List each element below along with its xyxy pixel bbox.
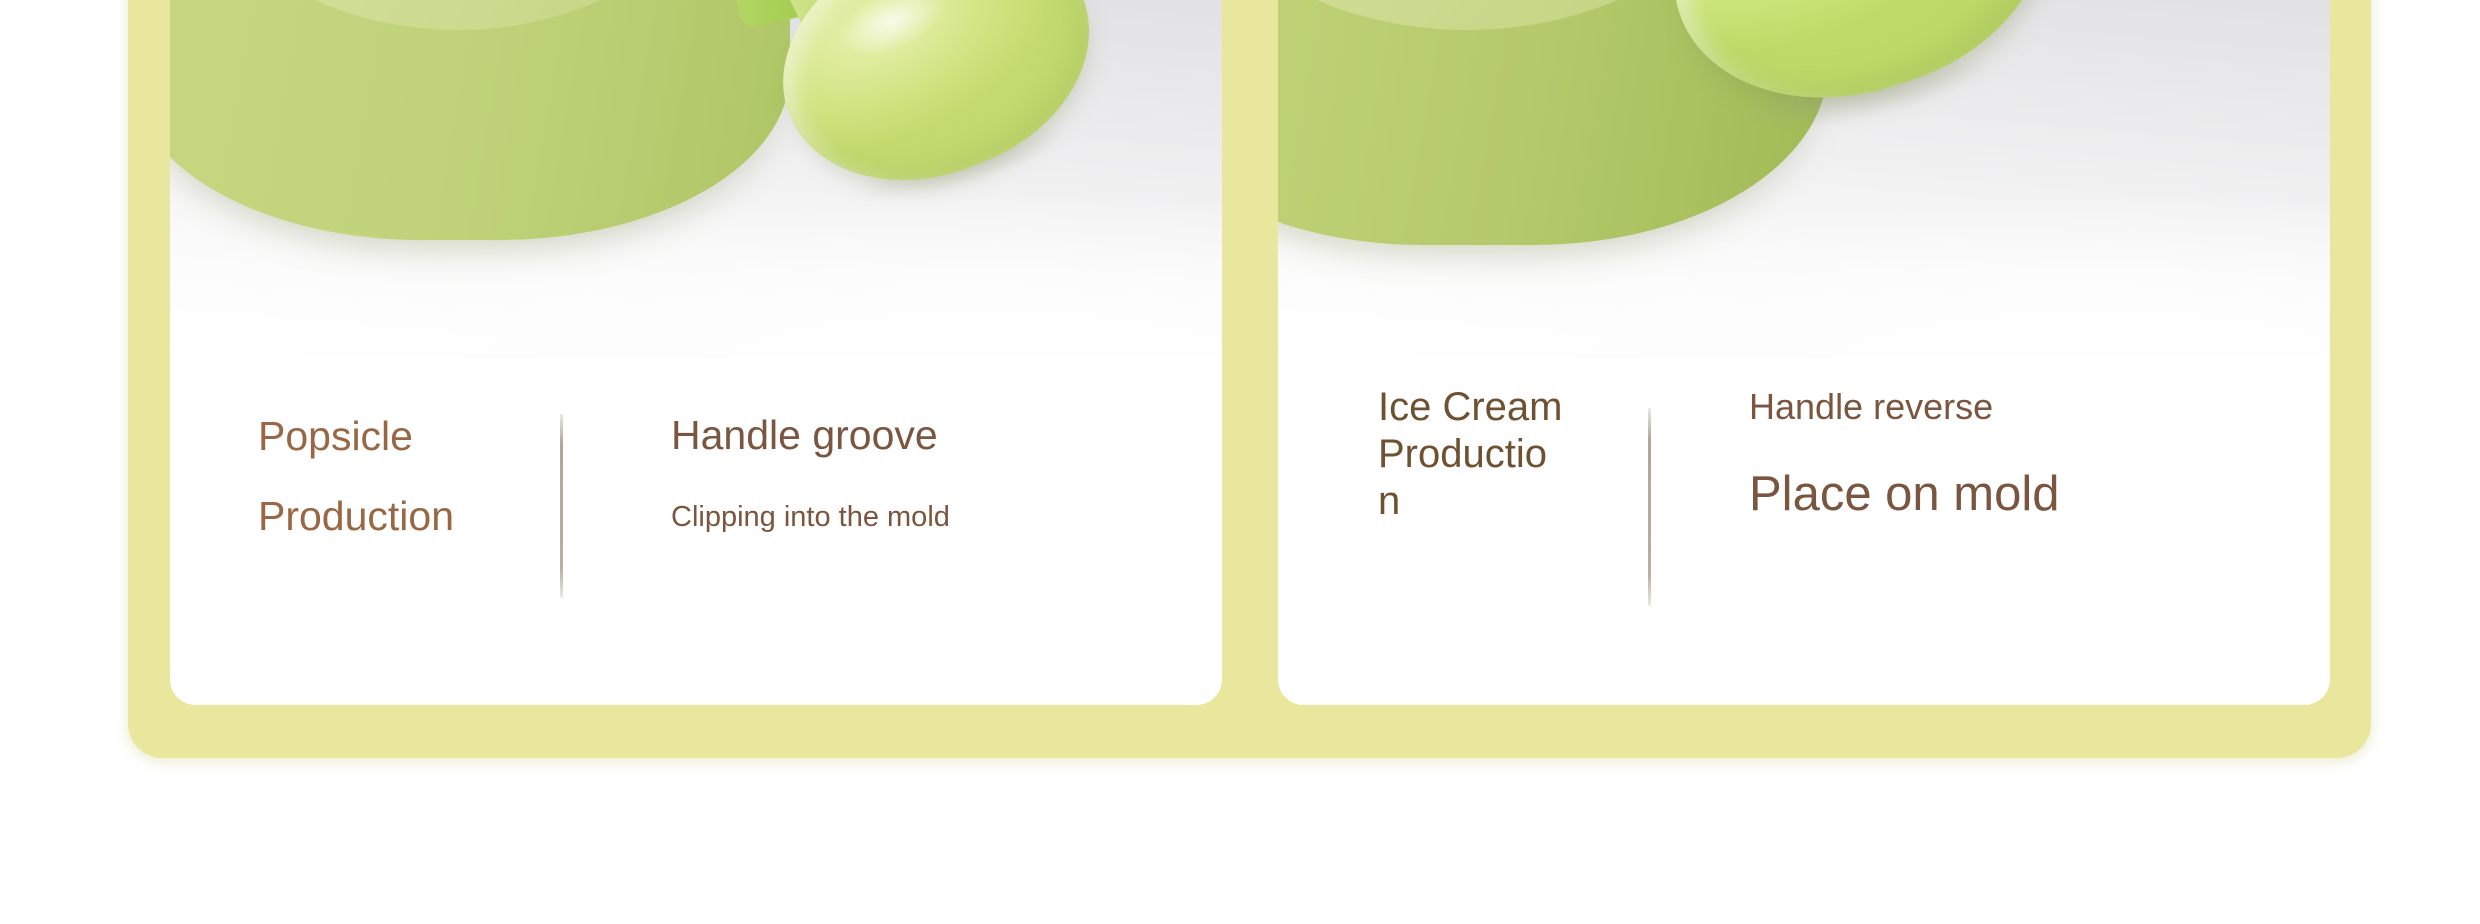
popsicle-subtitle: Production (258, 490, 458, 542)
caption-left-column: Ice Cream Production (1278, 384, 1648, 526)
caption-right-column: Handle reverse Place on mold (1651, 384, 2330, 525)
popsicle-mold-photo (170, 0, 1222, 358)
handle-reverse-heading: Handle reverse (1749, 384, 2330, 429)
feature-card-row: Popsicle Production Handle groove Clippi… (170, 0, 2330, 705)
handle-groove-heading: Handle groove (671, 410, 1222, 461)
ice-cream-mold-photo (1278, 0, 2330, 358)
card-caption-ice-cream: Ice Cream Production Handle reverse Plac… (1278, 358, 2330, 705)
feature-card-ice-cream[interactable]: Ice Cream Production Handle reverse Plac… (1278, 0, 2330, 705)
caption-left-column: Popsicle Production (170, 410, 560, 543)
card-caption-popsicle: Popsicle Production Handle groove Clippi… (170, 358, 1222, 705)
handle-reverse-note: Place on mold (1749, 465, 2330, 525)
feature-card-popsicle[interactable]: Popsicle Production Handle groove Clippi… (170, 0, 1222, 705)
handle-groove-note: Clipping into the mold (671, 497, 971, 537)
caption-right-column: Handle groove Clipping into the mold (563, 410, 1222, 537)
product-feature-page: Popsicle Production Handle groove Clippi… (0, 0, 2480, 924)
popsicle-title: Popsicle (258, 410, 458, 462)
ice-cream-title: Ice Cream Production (1378, 384, 1563, 526)
